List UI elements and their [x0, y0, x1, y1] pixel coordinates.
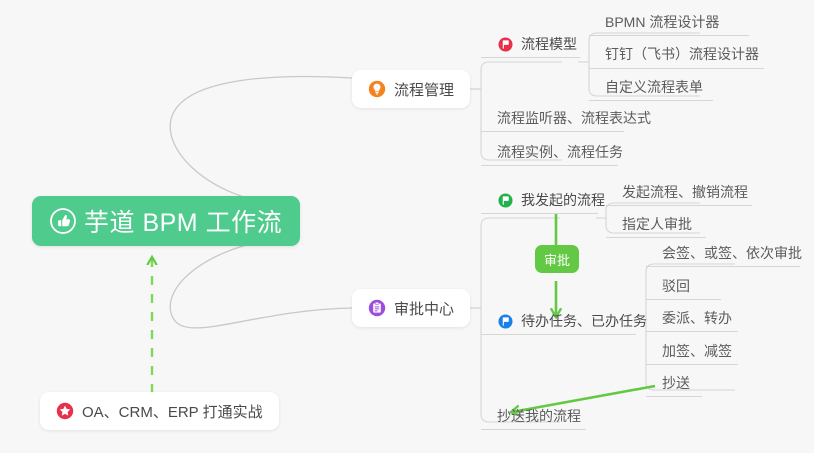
underline-my-initiated [481, 213, 598, 214]
node-countersign[interactable]: 会签、或签、依次审批 [654, 240, 808, 266]
underline-instance-task [481, 165, 618, 166]
callout-node[interactable]: OA、CRM、ERP 打通实战 [40, 392, 279, 430]
star-badge-icon [56, 402, 74, 420]
label-add-remove-sign: 加签、减签 [662, 341, 732, 361]
node-assignee-approval[interactable]: 指定人审批 [614, 211, 698, 237]
lightbulb-icon [368, 80, 386, 98]
label-cc-to-me: 抄送我的流程 [497, 406, 581, 426]
label-instance-task: 流程实例、流程任务 [497, 142, 623, 162]
branch-label-approval-center: 审批中心 [394, 298, 454, 319]
node-bpmn-designer[interactable]: BPMN 流程设计器 [597, 9, 725, 35]
node-my-initiated[interactable]: 我发起的流程 [490, 187, 611, 213]
underline-start-cancel [606, 205, 752, 206]
label-countersign: 会签、或签、依次审批 [662, 243, 802, 263]
node-custom-process-form[interactable]: 自定义流程表单 [597, 74, 709, 100]
label-delegate-transfer: 委派、转办 [662, 308, 732, 328]
node-todo-done[interactable]: 待办任务、已办任务 [490, 308, 653, 334]
branch-node-approval-center[interactable]: 审批中心 [352, 289, 470, 327]
edge-root-to-approval-center [170, 238, 352, 328]
callout-label: OA、CRM、ERP 打通实战 [82, 401, 263, 422]
underline-custom-process-form [589, 100, 713, 101]
node-listener-expression[interactable]: 流程监听器、流程表达式 [489, 105, 657, 131]
node-process-model[interactable]: 流程模型 [490, 31, 583, 57]
flag-icon [498, 37, 513, 52]
label-custom-process-form: 自定义流程表单 [605, 77, 703, 97]
node-cc[interactable]: 抄送 [654, 370, 696, 396]
underline-dingtalk-designer [589, 68, 764, 69]
label-listener-expression: 流程监听器、流程表达式 [497, 108, 651, 128]
node-cc-to-me[interactable]: 抄送我的流程 [489, 403, 587, 429]
underline-delegate-transfer [646, 331, 738, 332]
underline-listener-expression [481, 131, 624, 132]
underline-countersign [646, 266, 800, 267]
mindmap-canvas: 芋道 BPM 工作流 OA、CRM、ERP 打通实战 流程管理 [0, 0, 814, 453]
node-instance-task[interactable]: 流程实例、流程任务 [489, 139, 629, 165]
underline-cc [646, 396, 702, 397]
node-reject[interactable]: 驳回 [654, 273, 696, 299]
label-dingtalk-feishu-designer: 钉钉（飞书）流程设计器 [605, 44, 759, 64]
label-bpmn-designer: BPMN 流程设计器 [605, 12, 719, 32]
flag-icon [498, 314, 513, 329]
underline-bpmn-designer [589, 35, 749, 36]
label-cc: 抄送 [662, 373, 690, 393]
node-dingtalk-feishu-designer[interactable]: 钉钉（飞书）流程设计器 [597, 41, 765, 67]
label-todo-done: 待办任务、已办任务 [521, 311, 647, 331]
underline-cc-to-me [481, 429, 586, 430]
label-reject: 驳回 [662, 276, 690, 296]
underline-add-remove-sign [646, 364, 738, 365]
thumbs-up-icon [50, 208, 76, 234]
approval-tag[interactable]: 审批 [535, 245, 579, 273]
edge-root-to-process-management [170, 77, 352, 205]
root-node[interactable]: 芋道 BPM 工作流 [32, 196, 300, 246]
underline-todo-done [481, 334, 636, 335]
branch-node-process-management[interactable]: 流程管理 [352, 70, 470, 108]
label-start-cancel: 发起流程、撤销流程 [622, 182, 748, 202]
node-add-remove-sign[interactable]: 加签、减签 [654, 338, 738, 364]
clipboard-icon [368, 299, 386, 317]
approval-tag-label: 审批 [544, 250, 570, 269]
underline-reject [646, 299, 721, 300]
label-assignee-approval: 指定人审批 [622, 214, 692, 234]
label-my-initiated: 我发起的流程 [521, 190, 605, 210]
branch-label-process-management: 流程管理 [394, 79, 454, 100]
underline-process-model [481, 57, 580, 58]
node-delegate-transfer[interactable]: 委派、转办 [654, 305, 738, 331]
underline-assignee-approval [606, 237, 706, 238]
node-start-cancel[interactable]: 发起流程、撤销流程 [614, 179, 754, 205]
flag-icon [498, 193, 513, 208]
label-process-model: 流程模型 [521, 34, 577, 54]
root-label: 芋道 BPM 工作流 [84, 203, 282, 239]
